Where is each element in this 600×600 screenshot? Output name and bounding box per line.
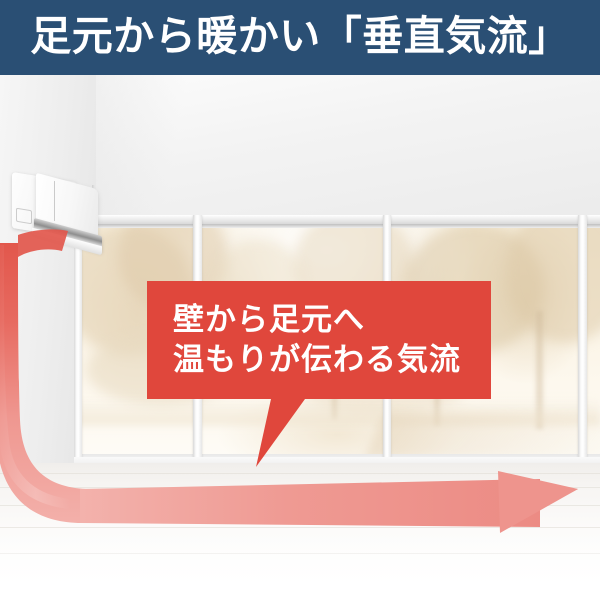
window-mullion bbox=[578, 215, 587, 465]
header-banner: 足元から暖かい「垂直気流」 bbox=[0, 0, 600, 75]
floor-plank-line bbox=[0, 487, 600, 488]
callout-bubble: 壁から足元へ 温もりが伝わる気流 bbox=[147, 281, 491, 399]
air-conditioner-unit bbox=[8, 177, 100, 255]
callout-line-2: 温もりが伝わる気流 bbox=[147, 340, 491, 380]
callout-line-1: 壁から足元へ bbox=[147, 300, 491, 340]
page-title: 足元から暖かい「垂直気流」 bbox=[0, 0, 600, 75]
ac-side-vent bbox=[16, 208, 32, 225]
promo-image: 足元から暖かい「垂直気流」 bbox=[0, 0, 600, 600]
room-scene: 壁から足元へ 温もりが伝わる気流 bbox=[0, 75, 600, 600]
ac-panel-seam bbox=[54, 181, 55, 221]
window-frame-top bbox=[74, 215, 600, 224]
floor-plank-line bbox=[0, 527, 600, 528]
callout-box: 壁から足元へ 温もりが伝わる気流 bbox=[147, 281, 491, 399]
window-frame-top-shadow bbox=[74, 224, 600, 228]
floor-plank-line bbox=[0, 473, 600, 474]
floor bbox=[0, 463, 600, 600]
callout-tail bbox=[147, 399, 491, 471]
floor-fade bbox=[0, 530, 600, 600]
floor-plank-line bbox=[0, 505, 600, 506]
